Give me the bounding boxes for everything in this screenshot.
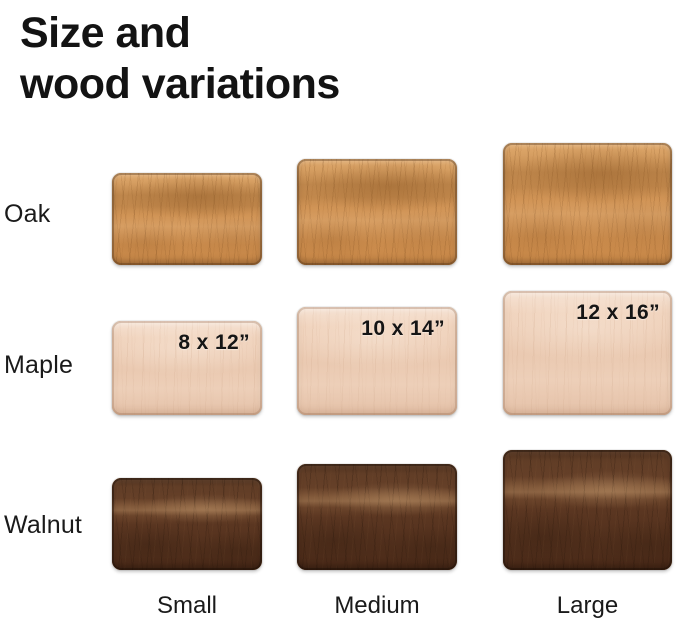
column-label-small: Small xyxy=(112,592,262,620)
wood-grain-texture xyxy=(112,173,262,265)
board-walnut-medium[interactable] xyxy=(297,464,457,570)
wood-grain-texture xyxy=(503,450,672,570)
row-label-oak: Oak xyxy=(4,200,50,229)
board-oak-small[interactable] xyxy=(112,173,262,265)
row-label-maple: Maple xyxy=(4,351,73,380)
board-oak-medium[interactable] xyxy=(297,159,457,265)
dimension-label-large: 12 x 16” xyxy=(576,301,660,325)
wood-grain-texture xyxy=(112,478,262,570)
wood-grain-texture xyxy=(297,159,457,265)
board-walnut-small[interactable] xyxy=(112,478,262,570)
dimension-label-medium: 10 x 14” xyxy=(361,317,445,341)
page-title: Size and wood variations xyxy=(20,8,640,109)
board-maple-medium[interactable]: 10 x 14” xyxy=(297,307,457,415)
wood-grain-texture xyxy=(297,464,457,570)
column-label-large: Large xyxy=(503,592,672,620)
dimension-label-small: 8 x 12” xyxy=(178,331,250,355)
board-maple-large[interactable]: 12 x 16” xyxy=(503,291,672,415)
row-label-walnut: Walnut xyxy=(4,511,82,540)
column-label-medium: Medium xyxy=(297,592,457,620)
wood-grain-texture xyxy=(503,143,672,265)
board-maple-small[interactable]: 8 x 12” xyxy=(112,321,262,415)
board-oak-large[interactable] xyxy=(503,143,672,265)
board-walnut-large[interactable] xyxy=(503,450,672,570)
